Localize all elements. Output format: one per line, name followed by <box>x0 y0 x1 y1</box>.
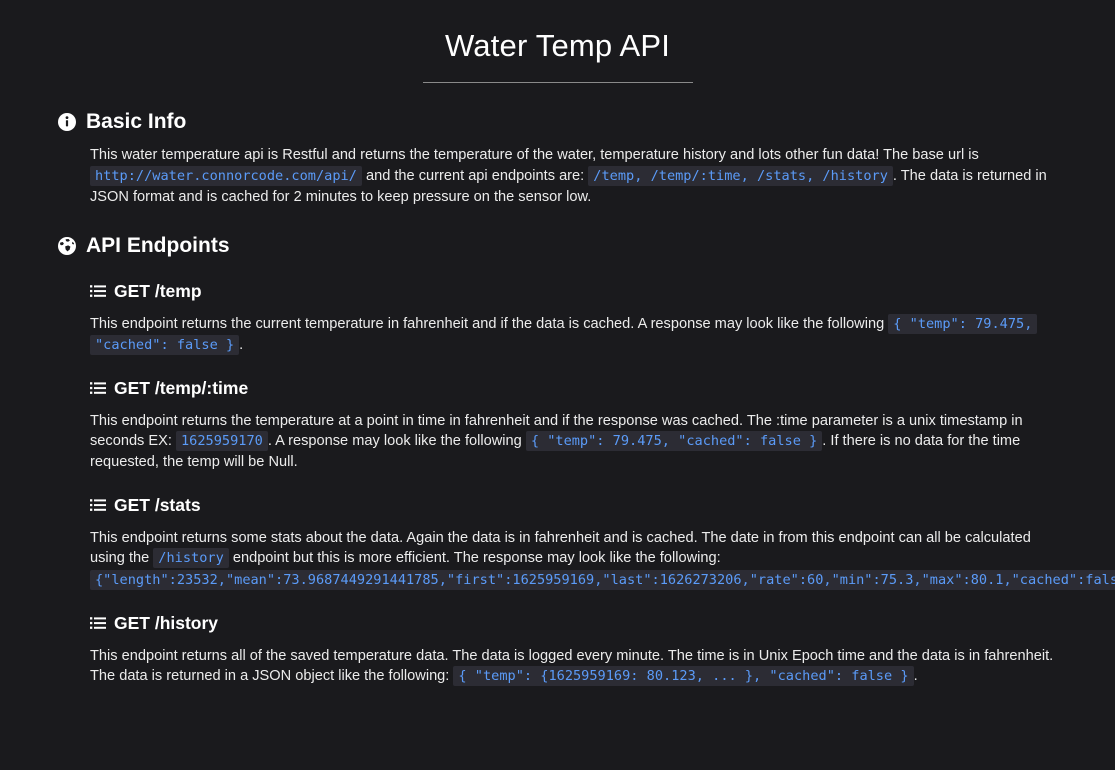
endpoint-paragraph-history: This endpoint returns all of the saved t… <box>57 634 1058 688</box>
page-title: Water Temp API <box>0 26 1115 66</box>
api-endpoints-heading-label: API Endpoints <box>86 233 230 258</box>
basic-info-paragraph: This water temperature api is Restful an… <box>90 134 1055 207</box>
basic-info-text-2: and the current api endpoints are: <box>366 168 584 184</box>
list-icon <box>90 283 106 299</box>
api-endpoints-section: API Endpoints GET /temp This endpoint re… <box>0 207 1115 687</box>
api-documentation-page: Water Temp API Basic Info This water tem… <box>0 0 1115 770</box>
endpoint-heading-label-history: GET /history <box>114 613 218 634</box>
endpoint-temp-time-response-code: { "temp": 79.475, "cached": false } <box>526 431 822 451</box>
basic-info-body: This water temperature api is Restful an… <box>57 134 1058 207</box>
endpoint-history-text-2: . <box>914 668 918 684</box>
page-header: Water Temp API <box>0 0 1115 83</box>
endpoint-heading-label-stats: GET /stats <box>114 495 201 516</box>
endpoints-list-code: /temp, /temp/:time, /stats, /history <box>588 166 893 186</box>
endpoint-heading-temp-time: GET /temp/:time <box>57 356 1058 399</box>
endpoint-stats-text-2: endpoint but this is more efficient. The… <box>233 550 721 566</box>
endpoint-temp-text-1: This endpoint returns the current temper… <box>90 316 884 332</box>
endpoint-heading-history: GET /history <box>57 591 1058 634</box>
basic-info-text-1: This water temperature api is Restful an… <box>90 147 979 163</box>
api-endpoints-heading: API Endpoints <box>57 207 1058 258</box>
history-endpoint-code: /history <box>153 548 228 568</box>
list-icon <box>90 497 106 513</box>
list-icon <box>90 380 106 396</box>
base-url-code: http://water.connorcode.com/api/ <box>90 166 362 186</box>
info-circle-icon <box>57 112 77 132</box>
basic-info-section: Basic Info This water temperature api is… <box>0 83 1115 207</box>
endpoint-heading-temp: GET /temp <box>57 259 1058 302</box>
endpoint-history-response-code: { "temp": {1625959169: 80.123, ... }, "c… <box>453 666 913 686</box>
endpoint-temp-text-2: . <box>239 337 243 353</box>
endpoint-stats-response-code: {"length":23532,"mean":73.96874492914417… <box>90 570 1115 590</box>
endpoint-temp-time-text-2: . A response may look like the following <box>268 433 522 449</box>
endpoint-heading-stats: GET /stats <box>57 473 1058 516</box>
endpoint-heading-label-temp: GET /temp <box>114 281 202 302</box>
basic-info-heading: Basic Info <box>57 83 1058 134</box>
globe-icon <box>57 236 77 256</box>
endpoint-paragraph-temp-time: This endpoint returns the temperature at… <box>57 399 1058 473</box>
endpoint-heading-label-temp-time: GET /temp/:time <box>114 378 248 399</box>
unix-timestamp-example-code: 1625959170 <box>176 431 268 451</box>
endpoint-paragraph-temp: This endpoint returns the current temper… <box>57 302 1058 356</box>
list-icon <box>90 615 106 631</box>
basic-info-heading-label: Basic Info <box>86 109 186 134</box>
endpoint-paragraph-stats: This endpoint returns some stats about t… <box>57 516 1058 591</box>
